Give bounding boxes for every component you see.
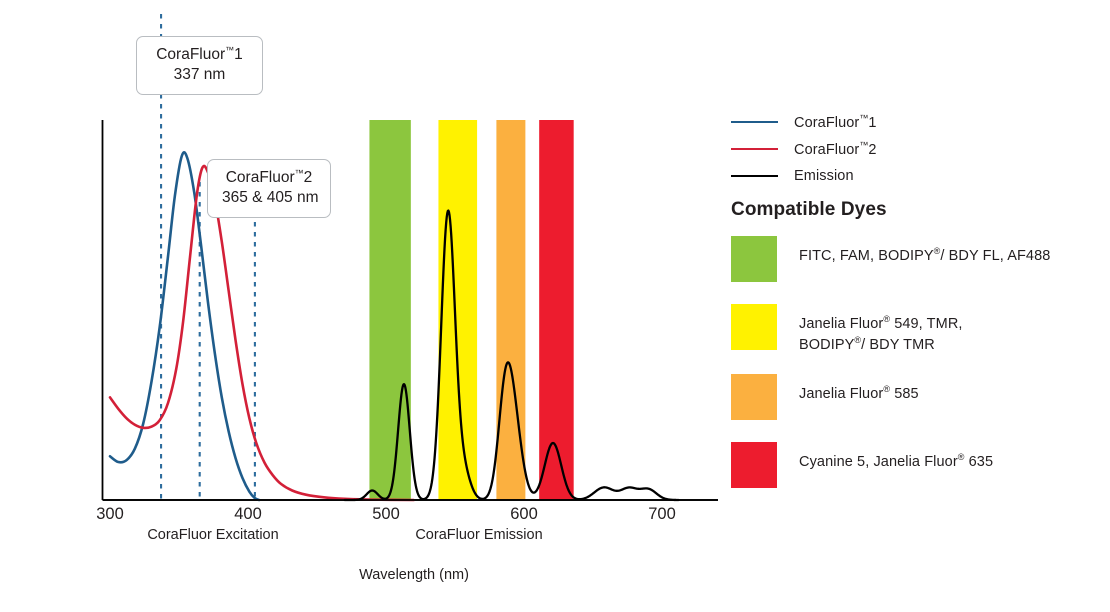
callout-corafluor1-line1: CoraFluor™1: [151, 45, 248, 65]
x-tick-300: 300: [80, 505, 140, 524]
compatible-dyes-list: FITC, FAM, BODIPY®/ BDY FL, AF488 Janeli…: [731, 236, 1106, 510]
dye-item-yellow: Janelia Fluor® 549, TMR,BODIPY®/ BDY TMR: [731, 304, 1106, 356]
emission-band-3: [539, 120, 574, 500]
legend-line-corafluor1: [731, 121, 778, 123]
dye-item-green: FITC, FAM, BODIPY®/ BDY FL, AF488: [731, 236, 1106, 286]
callout-corafluor1-line2: 337 nm: [151, 65, 248, 85]
legend-label-emission: Emission: [794, 168, 854, 184]
legend-item-emission: Emission: [731, 162, 1103, 189]
callout-corafluor2-line2: 365 & 405 nm: [222, 188, 316, 208]
x-axis-label: Wavelength (nm): [0, 567, 828, 583]
series-legend: CoraFluor™1 CoraFluor™2 Emission: [731, 108, 1103, 189]
legend-line-emission: [731, 175, 778, 177]
dye-label-red: Cyanine 5, Janelia Fluor® 635: [799, 442, 993, 472]
dye-item-orange: Janelia Fluor® 585: [731, 374, 1106, 424]
dye-swatch-orange: [731, 374, 777, 420]
callout-corafluor1: CoraFluor™1 337 nm: [136, 36, 263, 95]
compatible-dyes-heading: Compatible Dyes: [731, 199, 887, 221]
dye-swatch-green: [731, 236, 777, 282]
emission-band-0: [369, 120, 410, 500]
x-tick-400: 400: [218, 505, 278, 524]
legend-label-corafluor2: CoraFluor™2: [794, 140, 877, 158]
region-label-emission: CoraFluor Emission: [339, 527, 619, 543]
region-label-excitation: CoraFluor Excitation: [73, 527, 353, 543]
dye-swatch-red: [731, 442, 777, 488]
dye-label-yellow: Janelia Fluor® 549, TMR,BODIPY®/ BDY TMR: [799, 304, 963, 356]
dye-item-red: Cyanine 5, Janelia Fluor® 635: [731, 442, 1106, 492]
callout-corafluor2-line1: CoraFluor™2: [222, 168, 316, 188]
emission-band-1: [438, 120, 477, 500]
x-tick-700: 700: [632, 505, 692, 524]
callout-corafluor2: CoraFluor™2 365 & 405 nm: [207, 159, 331, 218]
dye-label-green: FITC, FAM, BODIPY®/ BDY FL, AF488: [799, 236, 1050, 266]
x-tick-600: 600: [494, 505, 554, 524]
dye-swatch-yellow: [731, 304, 777, 350]
legend-item-corafluor1: CoraFluor™1: [731, 108, 1103, 135]
legend-label-corafluor1: CoraFluor™1: [794, 113, 877, 131]
legend-line-corafluor2: [731, 148, 778, 150]
spectra-chart: Normalized Intensity 300 400 500 600 700…: [0, 0, 740, 612]
x-tick-500: 500: [356, 505, 416, 524]
dye-label-orange: Janelia Fluor® 585: [799, 374, 919, 404]
legend-item-corafluor2: CoraFluor™2: [731, 135, 1103, 162]
